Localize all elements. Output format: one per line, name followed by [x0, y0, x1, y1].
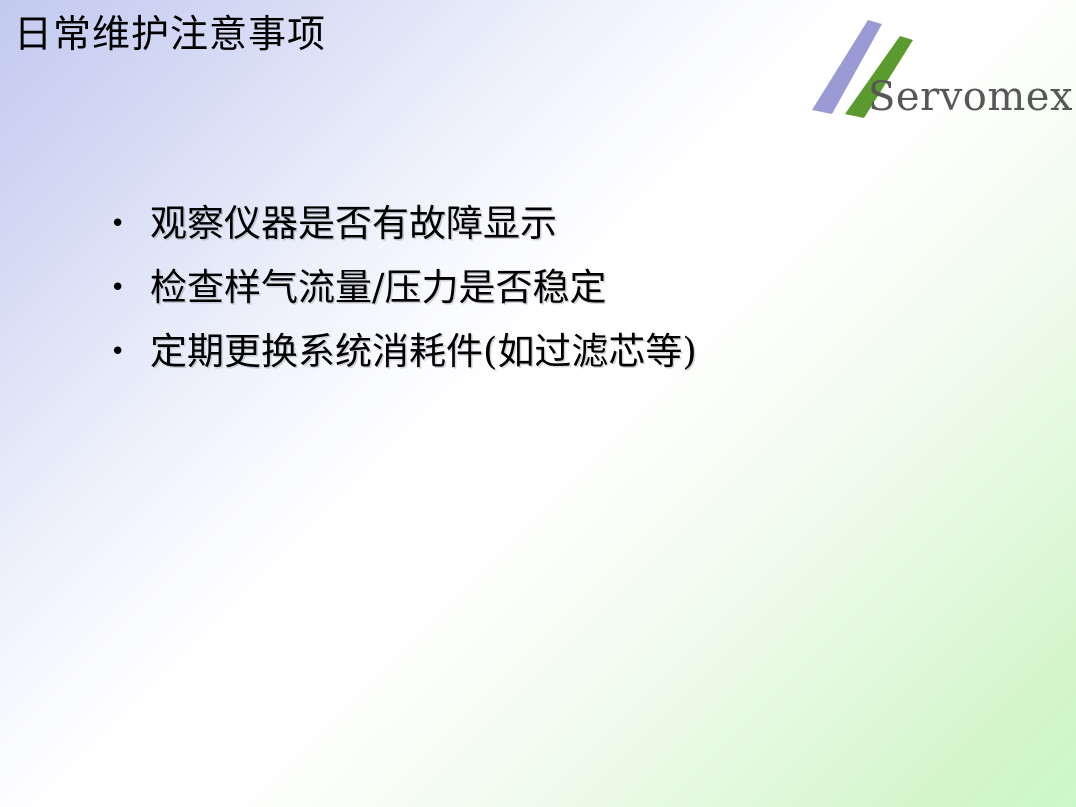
list-item: • 定期更换系统消耗件(如过滤芯等): [104, 324, 984, 388]
list-item: • 检查样气流量/压力是否稳定: [104, 260, 984, 324]
bullet-point-icon: •: [104, 260, 150, 316]
logo-wordmark: Servomex: [868, 74, 1073, 120]
bullet-point-icon: •: [104, 196, 150, 252]
slide-canvas: 日常维护注意事项 Servomex • 观察仪器是否有故障显示 • 检查样气流量…: [0, 0, 1076, 807]
slide-title-area: 日常维护注意事项: [14, 8, 774, 66]
bullet-text: 观察仪器是否有故障显示: [150, 196, 984, 252]
bullet-point-icon: •: [104, 324, 150, 380]
page-title: 日常维护注意事项: [14, 8, 774, 60]
bullet-text: 检查样气流量/压力是否稳定: [150, 260, 984, 316]
servomex-logo: Servomex: [796, 18, 1068, 130]
bullet-text: 定期更换系统消耗件(如过滤芯等): [150, 324, 984, 380]
bullet-list: • 观察仪器是否有故障显示 • 检查样气流量/压力是否稳定 • 定期更换系统消耗…: [104, 196, 984, 388]
list-item: • 观察仪器是否有故障显示: [104, 196, 984, 260]
